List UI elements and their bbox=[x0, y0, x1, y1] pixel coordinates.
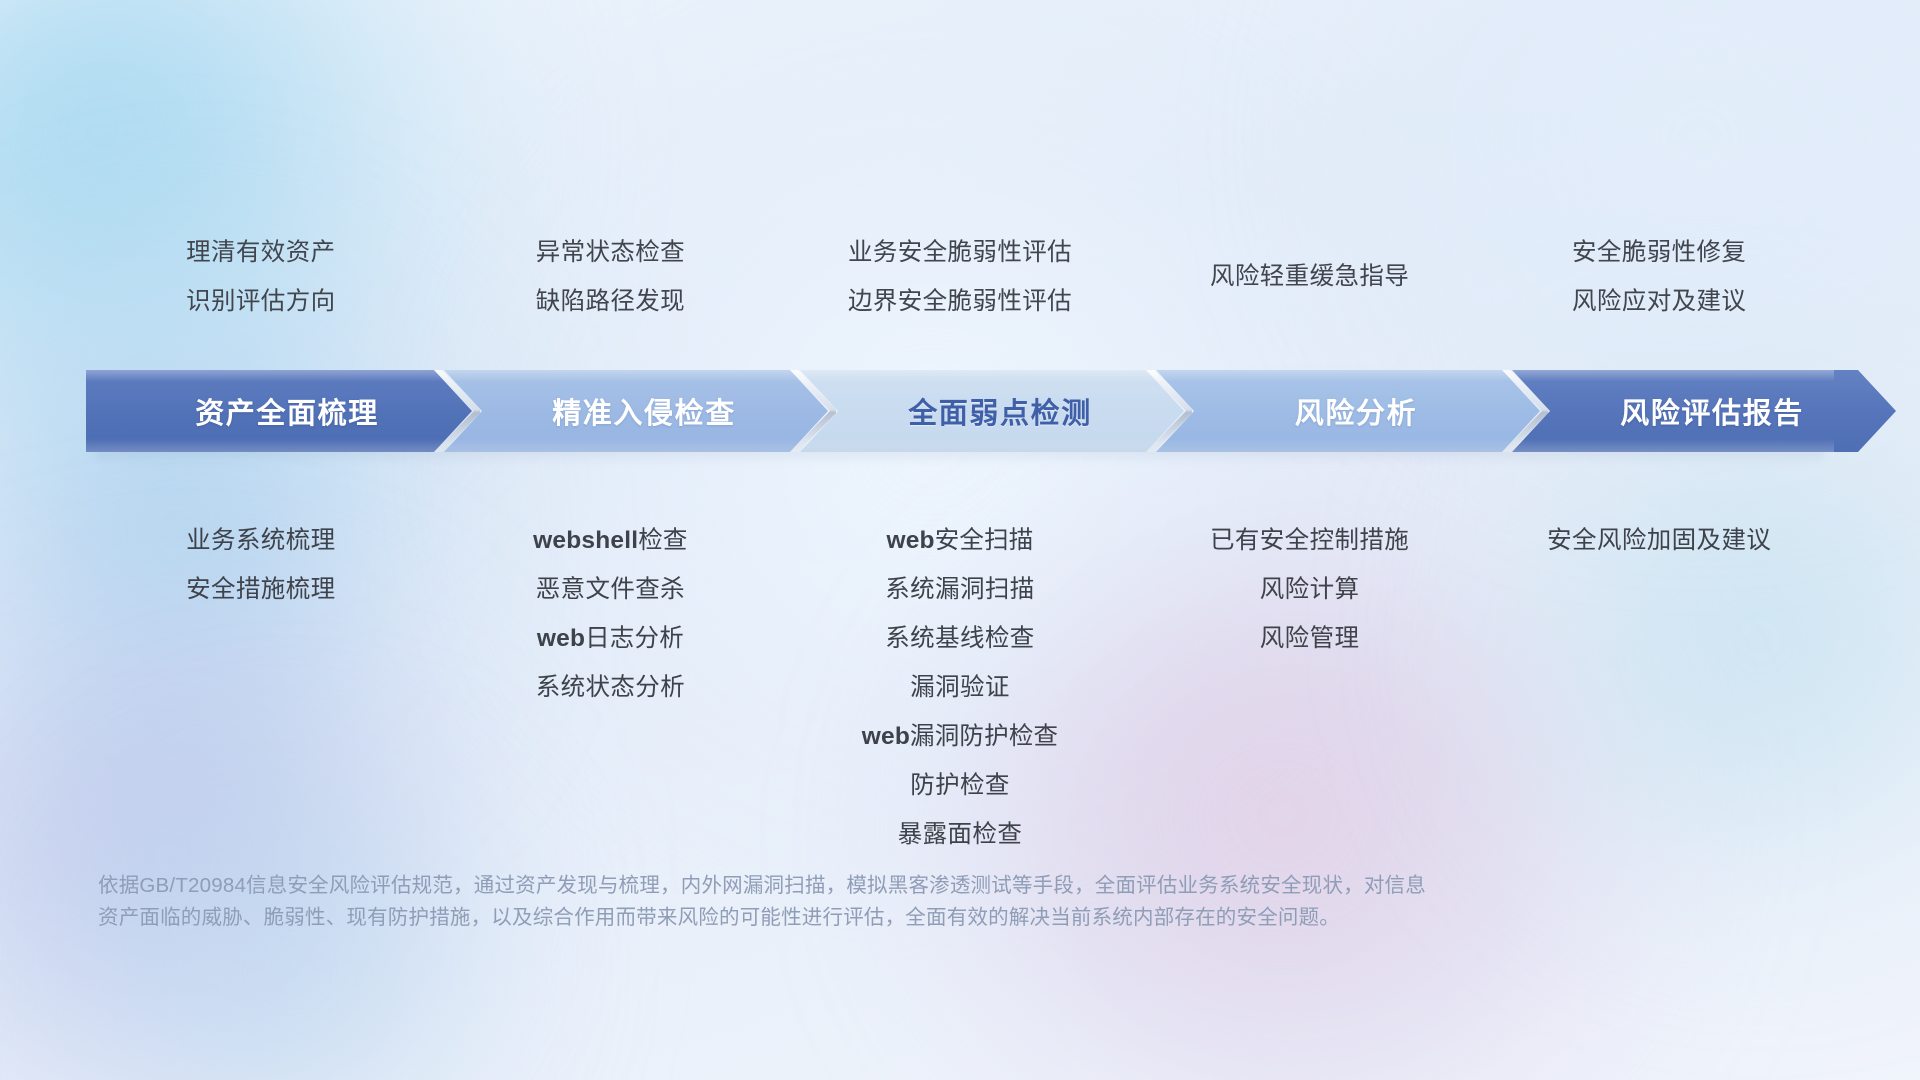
stage-3-inputs: 业务安全脆弱性评估 边界安全脆弱性评估 bbox=[785, 228, 1135, 326]
stage-1-input-1: 理清有效资产 bbox=[86, 228, 436, 277]
stage-activities-row: 业务系统梳理 安全措施梳理 webshell检查 恶意文件查杀 web日志分析 … bbox=[86, 516, 1834, 859]
stage-3-title: 全面弱点检测 bbox=[908, 390, 1092, 432]
stage-5-input-1: 安全脆弱性修复 bbox=[1484, 228, 1834, 277]
stage-3-activity-2: 系统漏洞扫描 bbox=[785, 565, 1135, 614]
stage-3-input-1: 业务安全脆弱性评估 bbox=[785, 228, 1135, 277]
stage-1-input-2: 识别评估方向 bbox=[86, 277, 436, 326]
process-stage-arrow-4[interactable]: 风险分析 bbox=[1156, 370, 1540, 452]
stage-3-activity-6: 防护检查 bbox=[785, 761, 1135, 810]
process-stage-arrow-3[interactable]: 全面弱点检测 bbox=[800, 370, 1184, 452]
stage-1-activity-1: 业务系统梳理 bbox=[86, 516, 436, 565]
stage-3-activities: web安全扫描 系统漏洞扫描 系统基线检查 漏洞验证 web漏洞防护检查 防护检… bbox=[785, 516, 1135, 859]
stage-3-activity-7: 暴露面检查 bbox=[785, 810, 1135, 859]
stage-1-activities: 业务系统梳理 安全措施梳理 bbox=[86, 516, 436, 614]
stage-3-activity-5: web漏洞防护检查 bbox=[785, 712, 1135, 761]
stage-3-activity-4: 漏洞验证 bbox=[785, 663, 1135, 712]
process-stage-arrow-1[interactable]: 资产全面梳理 bbox=[86, 370, 472, 452]
process-arrow-band: 资产全面梳理 精准入侵检查 全面弱点检测 风险分析 风险评估报告 bbox=[86, 370, 1834, 452]
stage-2-activity-4: 系统状态分析 bbox=[436, 663, 786, 712]
stage-2-input-1: 异常状态检查 bbox=[436, 228, 786, 277]
stage-inputs-row: 理清有效资产 识别评估方向 异常状态检查 缺陷路径发现 业务安全脆弱性评估 边界… bbox=[86, 228, 1834, 326]
stage-4-title: 风险分析 bbox=[1295, 390, 1417, 432]
stage-4-input-1: 风险轻重缓急指导 bbox=[1135, 252, 1485, 301]
footer-description: 依据GB/T20984信息安全风险评估规范，通过资产发现与梳理，内外网漏洞扫描，… bbox=[98, 870, 1518, 934]
stage-3-activity-3: 系统基线检查 bbox=[785, 614, 1135, 663]
stage-2-activities: webshell检查 恶意文件查杀 web日志分析 系统状态分析 bbox=[436, 516, 786, 712]
stage-1-activity-2: 安全措施梳理 bbox=[86, 565, 436, 614]
process-stage-arrow-2[interactable]: 精准入侵检查 bbox=[444, 370, 828, 452]
stage-4-activity-3: 风险管理 bbox=[1135, 614, 1485, 663]
stage-2-activity-3: web日志分析 bbox=[436, 614, 786, 663]
process-diagram: 理清有效资产 识别评估方向 异常状态检查 缺陷路径发现 业务安全脆弱性评估 边界… bbox=[0, 0, 1920, 1080]
stage-1-inputs: 理清有效资产 识别评估方向 bbox=[86, 228, 436, 326]
stage-5-activity-1: 安全风险加固及建议 bbox=[1484, 516, 1834, 565]
process-stage-arrow-5[interactable]: 风险评估报告 bbox=[1512, 370, 1896, 452]
stage-3-input-2: 边界安全脆弱性评估 bbox=[785, 277, 1135, 326]
stage-5-title: 风险评估报告 bbox=[1620, 390, 1804, 432]
stage-4-inputs: 风险轻重缓急指导 bbox=[1135, 228, 1485, 326]
stage-1-title: 资产全面梳理 bbox=[195, 390, 379, 432]
stage-3-activity-1: web安全扫描 bbox=[785, 516, 1135, 565]
stage-2-title: 精准入侵检查 bbox=[552, 390, 736, 432]
stage-5-activities: 安全风险加固及建议 bbox=[1484, 516, 1834, 565]
stage-2-input-2: 缺陷路径发现 bbox=[436, 277, 786, 326]
stage-2-activity-2: 恶意文件查杀 bbox=[436, 565, 786, 614]
stage-5-inputs: 安全脆弱性修复 风险应对及建议 bbox=[1484, 228, 1834, 326]
stage-5-input-2: 风险应对及建议 bbox=[1484, 277, 1834, 326]
stage-4-activity-1: 已有安全控制措施 bbox=[1135, 516, 1485, 565]
stage-2-inputs: 异常状态检查 缺陷路径发现 bbox=[436, 228, 786, 326]
stage-4-activities: 已有安全控制措施 风险计算 风险管理 bbox=[1135, 516, 1485, 663]
footer-line-2: 资产面临的威胁、脆弱性、现有防护措施，以及综合作用而带来风险的可能性进行评估，全… bbox=[98, 902, 1518, 934]
footer-line-1: 依据GB/T20984信息安全风险评估规范，通过资产发现与梳理，内外网漏洞扫描，… bbox=[98, 870, 1518, 902]
stage-4-activity-2: 风险计算 bbox=[1135, 565, 1485, 614]
stage-2-activity-1: webshell检查 bbox=[436, 516, 786, 565]
